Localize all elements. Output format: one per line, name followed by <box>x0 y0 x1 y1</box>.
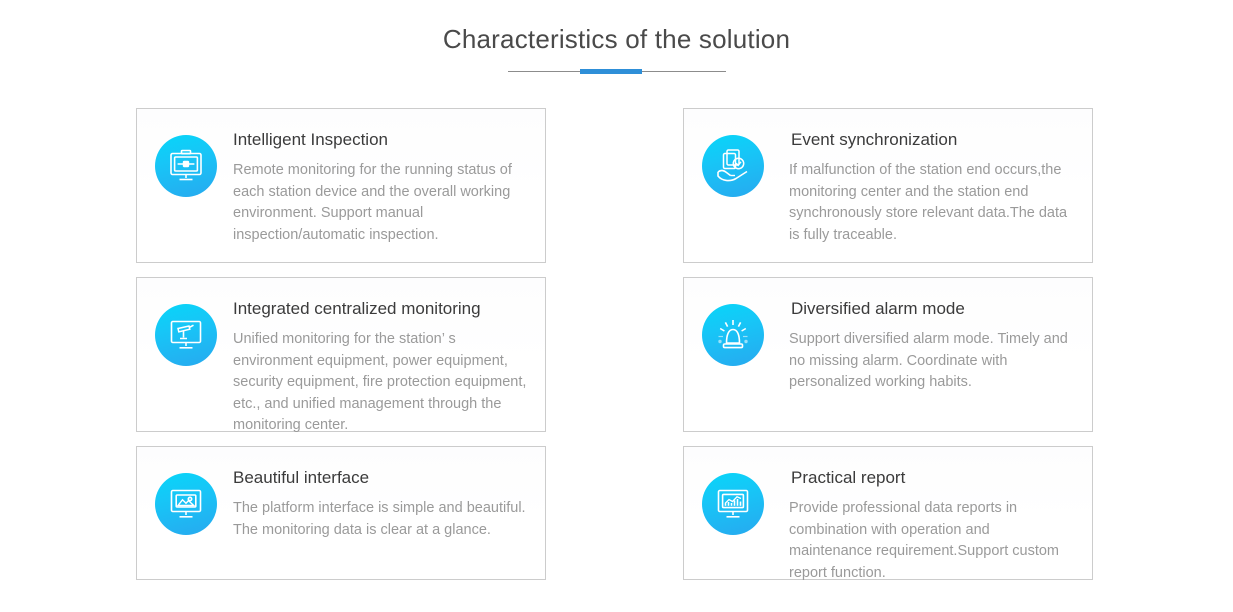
alarm-siren-icon <box>702 304 764 366</box>
monitor-camera-icon <box>155 304 217 366</box>
feature-card-event-synchronization[interactable]: Event synchronization If malfunction of … <box>683 108 1093 263</box>
card-description: Support diversified alarm mode. Timely a… <box>789 329 1076 394</box>
card-description: The platform interface is simple and bea… <box>233 498 529 541</box>
monitor-chart-icon <box>702 473 764 535</box>
card-title: Diversified alarm mode <box>791 298 1076 320</box>
card-description: Unified monitoring for the station’ s en… <box>233 329 529 437</box>
page-title: Characteristics of the solution <box>0 22 1233 56</box>
page-header: Characteristics of the solution <box>0 0 1233 74</box>
feature-card-beautiful-interface[interactable]: Beautiful interface The platform interfa… <box>136 446 546 580</box>
card-title: Practical report <box>791 467 1076 489</box>
card-body: Event synchronization If malfunction of … <box>764 128 1076 246</box>
card-description: Remote monitoring for the running status… <box>233 160 529 246</box>
card-body: Intelligent Inspection Remote monitoring… <box>217 128 529 246</box>
card-description: If malfunction of the station end occurs… <box>789 160 1076 246</box>
card-title: Intelligent Inspection <box>233 129 529 151</box>
feature-card-integrated-centralized-monitoring[interactable]: Integrated centralized monitoring Unifie… <box>136 277 546 432</box>
feature-card-diversified-alarm-mode[interactable]: Diversified alarm mode Support diversifi… <box>683 277 1093 432</box>
card-body: Beautiful interface The platform interfa… <box>217 466 529 541</box>
divider-accent <box>580 69 642 74</box>
card-body: Diversified alarm mode Support diversifi… <box>764 297 1076 394</box>
feature-card-practical-report[interactable]: Practical report Provide professional da… <box>683 446 1093 580</box>
card-description: Provide professional data reports in com… <box>789 498 1076 584</box>
feature-row: Intelligent Inspection Remote monitoring… <box>136 108 1093 263</box>
card-title: Integrated centralized monitoring <box>233 298 529 320</box>
feature-row: Integrated centralized monitoring Unifie… <box>136 277 1093 432</box>
title-divider <box>508 69 726 74</box>
feature-card-intelligent-inspection[interactable]: Intelligent Inspection Remote monitoring… <box>136 108 546 263</box>
feature-row: Beautiful interface The platform interfa… <box>136 446 1093 580</box>
hand-sync-document-icon <box>702 135 764 197</box>
card-title: Event synchronization <box>791 129 1076 151</box>
monitor-settings-icon <box>155 135 217 197</box>
card-body: Integrated centralized monitoring Unifie… <box>217 297 529 437</box>
monitor-image-icon <box>155 473 217 535</box>
card-title: Beautiful interface <box>233 467 529 489</box>
card-body: Practical report Provide professional da… <box>764 466 1076 584</box>
features-grid: Intelligent Inspection Remote monitoring… <box>136 108 1093 594</box>
